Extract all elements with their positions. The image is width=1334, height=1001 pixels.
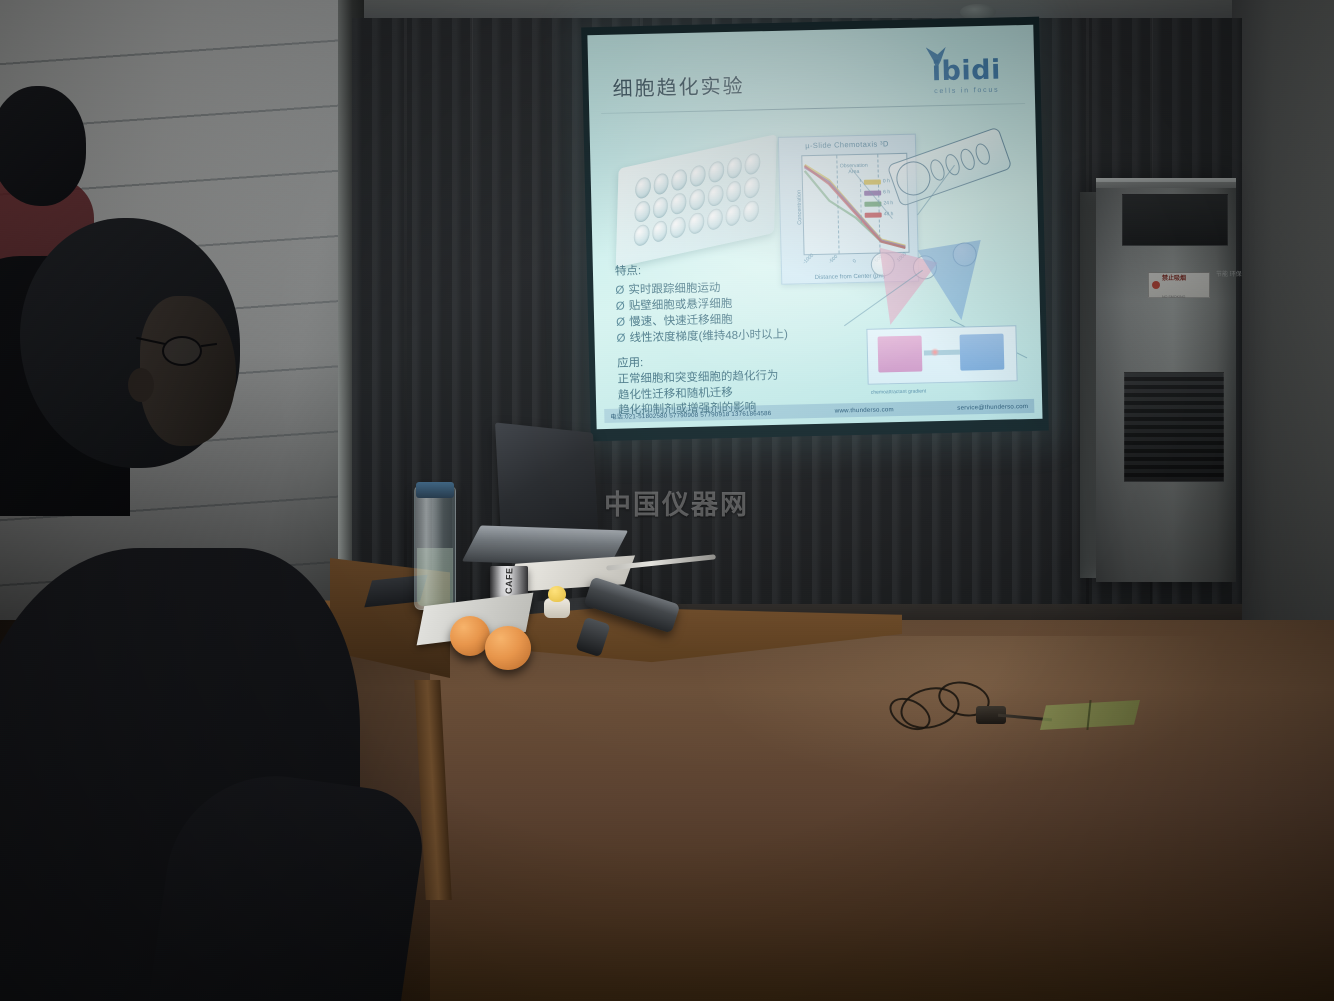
bullet-glyph: Ø [615,282,628,298]
logo-text: ibidi [931,55,1001,88]
orange-fruit [450,616,490,656]
legend-label: 0 h [883,178,890,184]
well [707,207,723,231]
chamber-right [960,334,1005,371]
well [744,176,760,200]
well [635,176,651,200]
legend-label: 24 h [883,200,893,206]
projection-screen: 细胞趋化实验 ibidi cells in focus [581,17,1049,442]
person-face [140,296,236,446]
feature-text: 贴壁细胞或悬浮细胞 [629,298,733,312]
cup-label: CAFE [504,572,515,594]
footer-email: service@thunderso.com [957,403,1028,412]
logo-tagline: cells in focus [913,86,1021,96]
wellplate-photo [607,137,786,265]
person-head [0,86,86,206]
curtain-fold [404,18,407,638]
orange-fruit [485,626,531,670]
audience-person-front [0,218,390,1001]
logo-wordmark: ibidi [912,55,1021,88]
well [634,223,650,247]
legend-item: 48 h [865,211,903,218]
features-heading: 特点: [615,257,845,278]
well [689,188,705,212]
feature-text: 慢速、快速迁移细胞 [629,314,733,328]
x-tick: 0 [852,258,858,264]
bottle-cap [416,482,454,498]
chambers-caption: chemoattractant gradient [871,388,926,395]
well [671,192,687,216]
well [745,152,761,176]
ac-unit-shading [1096,182,1236,582]
bullet-glyph: Ø [616,330,629,346]
well [653,172,669,196]
photo-scene: 细胞趋化实验 ibidi cells in focus [0,0,1334,1001]
well [670,215,686,239]
legend-label: 6 h [883,189,890,195]
bullet-glyph: Ø [616,314,629,330]
rubber-duck-icon [548,586,566,602]
well [726,156,742,180]
slide-title: 细胞趋化实验 [612,70,745,102]
eyeglasses-icon [162,336,202,366]
right-wall-shadow [1232,0,1334,650]
well [653,196,669,220]
legend-item: 24 h [864,200,902,207]
well [671,168,687,192]
chamber-pair-figure: chemoattractant gradient [866,325,1017,385]
feature-text: 线性浓度梯度(维持48小时以上) [629,329,788,345]
legend-swatch [865,212,882,217]
site-watermark: 中国仪器网 [604,483,749,522]
blue-gradient-triangle [918,240,993,325]
well [690,164,706,188]
well [707,184,723,208]
chart-title: µ-Slide Chemotaxis ³D [779,139,915,151]
room-container: 细胞趋化实验 ibidi cells in focus [0,0,1334,1001]
features-block: 特点: Ø实时跟踪细胞运动 Ø贴壁细胞或悬浮细胞 Ø慢速、快速迁移细胞 Ø线性浓… [615,257,847,346]
well [634,200,650,224]
chamber-left [878,336,923,373]
gradient-triangles-diagram [860,221,1013,333]
legend-swatch [864,179,881,184]
feature-text: 实时跟踪细胞运动 [628,282,720,296]
well [652,219,668,243]
projected-slide: 细胞趋化实验 ibidi cells in focus [587,25,1042,429]
bullet-glyph: Ø [616,298,629,314]
well [743,199,759,223]
well [688,211,704,235]
well [725,203,741,227]
ibidi-logo: ibidi cells in focus [912,55,1021,116]
person-ear [128,368,154,402]
bottle-contents [417,548,453,606]
well [708,160,724,184]
applications-block: 应用: 正常细胞和突变细胞的趋化行为 趋化性迁移和随机迁移 趋化抑制剂或增强剂的… [617,349,868,419]
well [726,180,742,204]
